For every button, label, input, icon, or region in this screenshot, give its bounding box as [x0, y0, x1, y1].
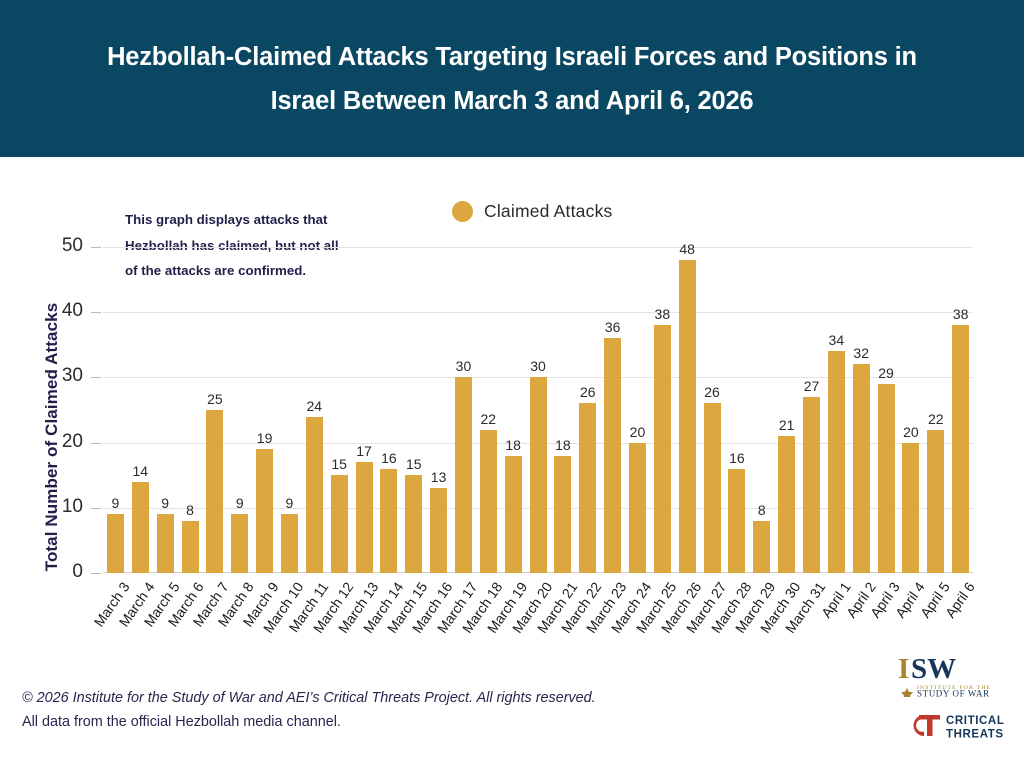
- bar[interactable]: [132, 482, 149, 573]
- bar[interactable]: [803, 397, 820, 573]
- copyright-line: © 2026 Institute for the Study of War an…: [22, 686, 782, 710]
- bar[interactable]: [778, 436, 795, 573]
- bar-slot: 36: [600, 247, 625, 573]
- bar-value-label: 14: [132, 463, 148, 479]
- bar[interactable]: [455, 377, 472, 573]
- bar[interactable]: [554, 456, 571, 573]
- bar-slot: 9: [277, 247, 302, 573]
- bar-slot: 18: [501, 247, 526, 573]
- bar-value-label: 15: [406, 456, 422, 472]
- y-tick-mark: [91, 573, 101, 574]
- bar[interactable]: [331, 475, 348, 573]
- bar-value-label: 13: [431, 469, 447, 485]
- bar-slot: 9: [227, 247, 252, 573]
- bar-value-label: 30: [530, 358, 546, 374]
- y-axis-tick-label: 30: [31, 365, 83, 387]
- y-tick-mark: [91, 377, 101, 378]
- bar-slot: 30: [451, 247, 476, 573]
- y-axis-tick-label: 40: [31, 300, 83, 322]
- x-label-slot: March 31: [799, 577, 824, 672]
- bar-slot: 26: [700, 247, 725, 573]
- bar[interactable]: [530, 377, 547, 573]
- bar[interactable]: [654, 325, 671, 573]
- footer: © 2026 Institute for the Study of War an…: [22, 686, 782, 734]
- bar[interactable]: [430, 488, 447, 573]
- bar-value-label: 36: [605, 319, 621, 335]
- bar[interactable]: [505, 456, 522, 573]
- bar-value-label: 22: [928, 411, 944, 427]
- bar[interactable]: [828, 351, 845, 573]
- critical-threats-logo: CRITICAL THREATS: [904, 710, 1016, 741]
- bar-slot: 9: [153, 247, 178, 573]
- bar-value-label: 25: [207, 391, 223, 407]
- svg-text:I: I: [898, 653, 909, 685]
- bar[interactable]: [206, 410, 223, 573]
- bar[interactable]: [281, 514, 298, 573]
- y-axis-tick-label: 50: [31, 235, 83, 257]
- bar-value-label: 8: [758, 502, 766, 518]
- x-label-slot: April 1: [824, 577, 849, 672]
- svg-text:SW: SW: [911, 653, 956, 685]
- svg-text:THREATS: THREATS: [946, 729, 1004, 741]
- bar[interactable]: [902, 443, 919, 573]
- bar-slot: 14: [128, 247, 153, 573]
- bar-slot: 22: [923, 247, 948, 573]
- bar-slot: 30: [526, 247, 551, 573]
- y-axis-tick-label: 10: [31, 496, 83, 518]
- bar-series-claimed-attacks: 9149825919924151716151330221830182636203…: [103, 247, 973, 573]
- x-label-slot: April 2: [849, 577, 874, 672]
- bar-slot: 15: [327, 247, 352, 573]
- bar-value-label: 26: [704, 384, 720, 400]
- bar[interactable]: [380, 469, 397, 573]
- bar-slot: 38: [948, 247, 973, 573]
- bar-value-label: 27: [804, 378, 820, 394]
- bar-value-label: 19: [257, 430, 273, 446]
- bar-slot: 21: [774, 247, 799, 573]
- bar-slot: 8: [749, 247, 774, 573]
- bar-slot: 18: [550, 247, 575, 573]
- page-title: Hezbollah-Claimed Attacks Targeting Isra…: [72, 35, 952, 123]
- bar-value-label: 16: [729, 450, 745, 466]
- bar-value-label: 26: [580, 384, 596, 400]
- bar-value-label: 32: [853, 345, 869, 361]
- bar-value-label: 24: [307, 398, 323, 414]
- bar[interactable]: [157, 514, 174, 573]
- bar-value-label: 29: [878, 365, 894, 381]
- bar[interactable]: [256, 449, 273, 573]
- bar-slot: 19: [252, 247, 277, 573]
- chart-page: Hezbollah-Claimed Attacks Targeting Isra…: [0, 0, 1024, 768]
- bar[interactable]: [579, 403, 596, 573]
- bar[interactable]: [853, 364, 870, 573]
- data-source-line: All data from the official Hezbollah med…: [22, 710, 782, 734]
- bar[interactable]: [356, 462, 373, 573]
- chart-legend: Claimed Attacks: [452, 201, 612, 222]
- bar-value-label: 9: [236, 495, 244, 511]
- bar-slot: 22: [476, 247, 501, 573]
- bar[interactable]: [231, 514, 248, 573]
- bar-slot: 17: [352, 247, 377, 573]
- bar-value-label: 9: [286, 495, 294, 511]
- bar-value-label: 16: [381, 450, 397, 466]
- bar[interactable]: [306, 417, 323, 573]
- svg-text:STUDY OF WAR: STUDY OF WAR: [917, 689, 990, 698]
- bar-slot: 38: [650, 247, 675, 573]
- bar[interactable]: [405, 475, 422, 573]
- bar-value-label: 18: [555, 437, 571, 453]
- legend-marker-claimed-attacks: [452, 201, 473, 222]
- bar-slot: 29: [874, 247, 899, 573]
- chart-container: Total Number of Claimed Attacks This gra…: [0, 157, 1024, 668]
- x-label-slot: April 3: [874, 577, 899, 672]
- header-banner: Hezbollah-Claimed Attacks Targeting Isra…: [0, 0, 1024, 157]
- bar-slot: 20: [899, 247, 924, 573]
- y-tick-mark: [91, 312, 101, 313]
- bar-slot: 15: [401, 247, 426, 573]
- bar-value-label: 30: [456, 358, 472, 374]
- bar[interactable]: [604, 338, 621, 573]
- legend-label-claimed-attacks: Claimed Attacks: [484, 201, 612, 222]
- y-axis-tick-label: 0: [31, 561, 83, 583]
- bar-slot: 32: [849, 247, 874, 573]
- bar-value-label: 38: [953, 306, 969, 322]
- bar[interactable]: [704, 403, 721, 573]
- star-icon: [901, 688, 913, 697]
- bar[interactable]: [480, 430, 497, 573]
- bar-slot: 8: [178, 247, 203, 573]
- bar-value-label: 15: [331, 456, 347, 472]
- bar-slot: 16: [376, 247, 401, 573]
- y-axis-tick-label: 20: [31, 431, 83, 453]
- bar-slot: 34: [824, 247, 849, 573]
- bar-value-label: 18: [505, 437, 521, 453]
- bar[interactable]: [753, 521, 770, 573]
- bar-slot: 13: [426, 247, 451, 573]
- bar[interactable]: [878, 384, 895, 573]
- bar-slot: 25: [202, 247, 227, 573]
- bar-slot: 26: [575, 247, 600, 573]
- bar-value-label: 9: [112, 495, 120, 511]
- bar-value-label: 21: [779, 417, 795, 433]
- bar-slot: 24: [302, 247, 327, 573]
- x-axis-labels: March 3March 4March 5March 6March 7March…: [103, 577, 973, 672]
- bar-value-label: 48: [679, 241, 695, 257]
- y-tick-mark: [91, 508, 101, 509]
- bar-value-label: 34: [829, 332, 845, 348]
- bar-value-label: 20: [630, 424, 646, 440]
- isw-logo: I SW INSTITUTE FOR THE STUDY OF WAR: [896, 652, 1016, 697]
- x-axis-tick-label: April 6: [942, 579, 978, 621]
- bar-value-label: 17: [356, 443, 372, 459]
- y-tick-mark: [91, 443, 101, 444]
- bar[interactable]: [107, 514, 124, 573]
- bar-value-label: 20: [903, 424, 919, 440]
- bar-value-label: 38: [655, 306, 671, 322]
- bar-value-label: 8: [186, 502, 194, 518]
- bar-value-label: 22: [481, 411, 497, 427]
- bar[interactable]: [679, 260, 696, 573]
- plot-area: 01020304050 9149825919924151716151330221…: [103, 247, 973, 573]
- bar-slot: 20: [625, 247, 650, 573]
- logo-group: I SW INSTITUTE FOR THE STUDY OF WAR CRIT…: [896, 652, 1016, 756]
- bar[interactable]: [952, 325, 969, 573]
- svg-text:CRITICAL: CRITICAL: [946, 715, 1004, 727]
- bar-slot: 16: [724, 247, 749, 573]
- y-tick-mark: [91, 247, 101, 248]
- bar-slot: 27: [799, 247, 824, 573]
- bar[interactable]: [182, 521, 199, 573]
- bar[interactable]: [629, 443, 646, 573]
- bar-value-label: 9: [161, 495, 169, 511]
- bar-slot: 48: [675, 247, 700, 573]
- bar[interactable]: [728, 469, 745, 573]
- bar[interactable]: [927, 430, 944, 573]
- bar-slot: 9: [103, 247, 128, 573]
